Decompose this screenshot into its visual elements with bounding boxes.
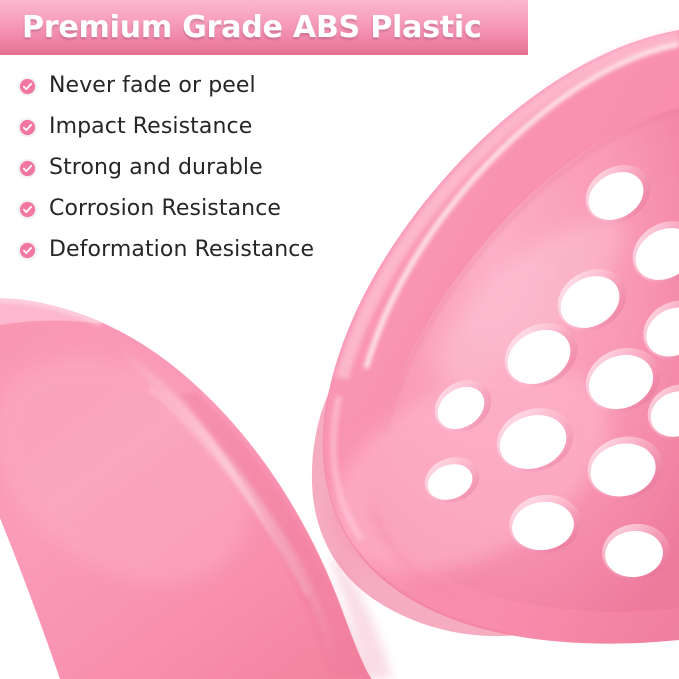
check-circle-icon	[18, 118, 37, 137]
product-infographic: Premium Grade ABS Plastic Never fade or …	[0, 0, 679, 679]
page-title: Premium Grade ABS Plastic	[22, 10, 482, 45]
check-circle-icon	[18, 200, 37, 219]
feature-label: Deformation Resistance	[49, 239, 314, 261]
check-circle-icon	[18, 77, 37, 96]
check-circle-icon	[18, 159, 37, 178]
feature-list: Never fade or peel Impact Resistance Str…	[18, 70, 314, 266]
list-item: Deformation Resistance	[18, 234, 314, 266]
list-item: Impact Resistance	[18, 111, 314, 143]
list-item: Strong and durable	[18, 152, 314, 184]
list-item: Never fade or peel	[18, 70, 314, 102]
list-item: Corrosion Resistance	[18, 193, 314, 225]
feature-label: Never fade or peel	[49, 75, 256, 97]
header-banner: Premium Grade ABS Plastic	[0, 0, 528, 55]
feature-label: Strong and durable	[49, 157, 263, 179]
check-circle-icon	[18, 241, 37, 260]
feature-label: Corrosion Resistance	[49, 198, 281, 220]
feature-label: Impact Resistance	[49, 116, 252, 138]
